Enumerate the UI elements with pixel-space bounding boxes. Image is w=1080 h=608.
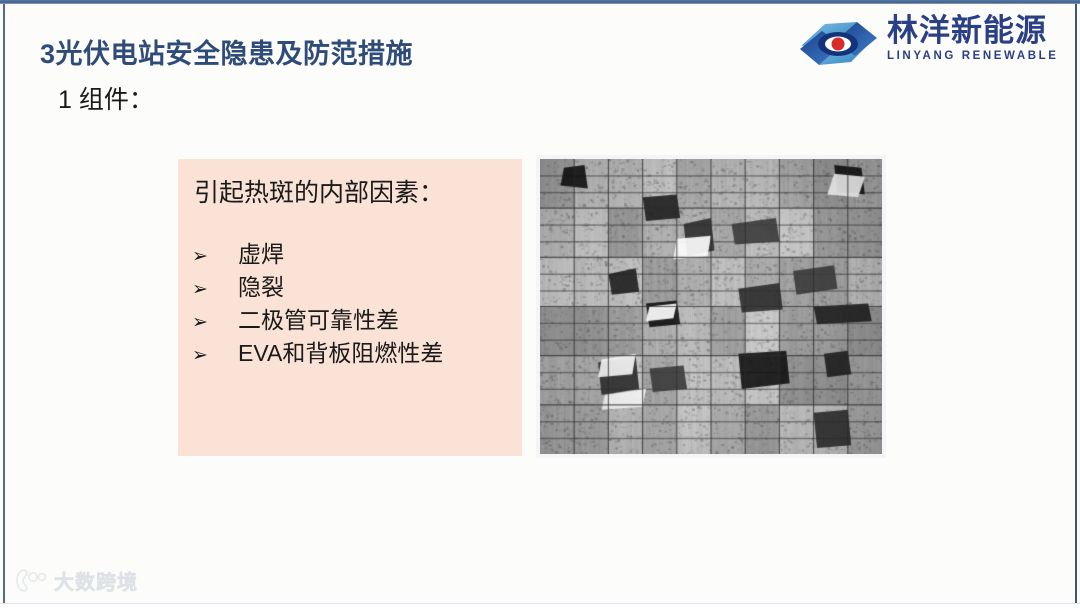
slide-top-border (0, 0, 1080, 4)
slide-right-border (1075, 4, 1077, 608)
company-logo: 林洋新能源 LINYANG RENEWABLE (795, 14, 1070, 74)
page-title: 3光伏电站安全隐患及防范措施 (40, 32, 413, 71)
el-image-canvas (540, 159, 882, 454)
factors-list: ➢ 虚焊 ➢ 隐裂 ➢ 二极管可靠性差 ➢ EVA和背板阻燃性差 (190, 235, 510, 367)
linyang-eye-diamond-icon (795, 16, 883, 71)
logo-name-en: LINYANG RENEWABLE (887, 49, 1067, 63)
arrow-bullet-icon: ➢ (190, 344, 238, 366)
el-inspection-image (536, 155, 886, 458)
site-watermark: 大数跨境 (14, 566, 138, 595)
internal-factors-panel: 引起热斑的内部因素： ➢ 虚焊 ➢ 隐裂 ➢ 二极管可靠性差 ➢ EVA和背板阻… (178, 159, 522, 456)
presentation-slide: 3光伏电站安全隐患及防范措施 1 组件： 林洋新能源 (0, 0, 1080, 608)
factor-label: 二极管可靠性差 (238, 301, 399, 335)
list-item: ➢ EVA和背板阻燃性差 (190, 334, 510, 367)
factor-label: 虚焊 (238, 235, 284, 269)
logo-wordmark: 林洋新能源 LINYANG RENEWABLE (887, 14, 1067, 63)
factor-label: 隐裂 (238, 268, 284, 302)
arrow-bullet-icon: ➢ (190, 278, 238, 300)
list-item: ➢ 二极管可靠性差 (190, 301, 510, 334)
factors-heading: 引起热斑的内部因素： (194, 173, 444, 209)
slide-left-border (3, 4, 5, 608)
section-subtitle: 1 组件： (58, 80, 154, 116)
arrow-bullet-icon: ➢ (190, 245, 238, 267)
slide-bottom-border (0, 603, 1080, 608)
factor-label: EVA和背板阻燃性差 (238, 334, 443, 368)
list-item: ➢ 隐裂 (190, 268, 510, 301)
watermark-logo-icon (14, 568, 48, 594)
logo-name-cn: 林洋新能源 (887, 14, 1067, 48)
list-item: ➢ 虚焊 (190, 235, 510, 268)
arrow-bullet-icon: ➢ (190, 311, 238, 333)
watermark-text: 大数跨境 (54, 566, 138, 595)
